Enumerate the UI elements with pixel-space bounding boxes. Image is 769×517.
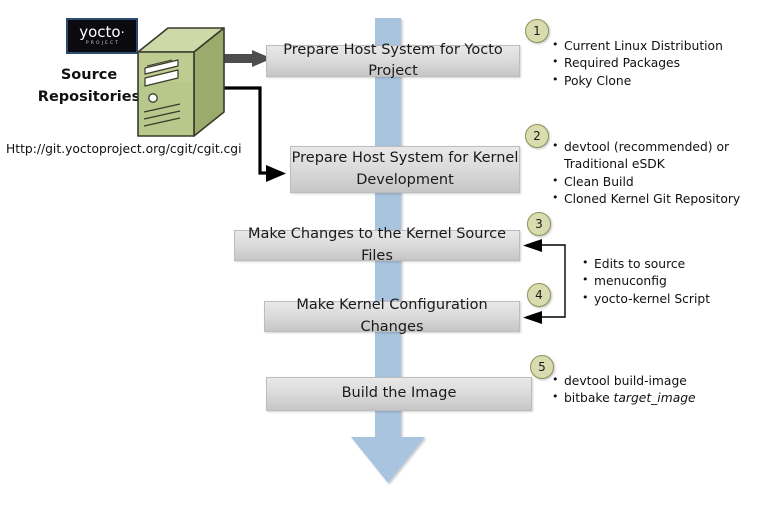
source-label-line2: Repositories <box>30 86 148 108</box>
step-1-box[interactable]: Prepare Host System for Yocto Project <box>266 45 520 77</box>
note-item-line2: Traditional eSDK <box>564 156 740 173</box>
logo-dot: · <box>121 26 125 41</box>
note-item: yocto-kernel Script <box>582 291 710 308</box>
note-item: devtool (recommended) or Traditional eSD… <box>552 139 740 174</box>
step-1-notes: Current Linux Distribution Required Pack… <box>552 38 723 90</box>
note-item: Required Packages <box>552 55 723 72</box>
step-1-box-label: Prepare Host System for Yocto Project <box>267 40 519 82</box>
step-2-box[interactable]: Prepare Host System for Kernel Developme… <box>290 146 520 193</box>
logo-subtitle: PROJECT <box>84 42 120 47</box>
step-badge-4: 4 <box>527 283 551 307</box>
step-badge-3: 3 <box>527 212 551 236</box>
note-item: Poky Clone <box>552 73 723 90</box>
arrowhead-step4 <box>523 311 542 324</box>
note-item: bitbake target_image <box>552 390 696 407</box>
arrow-server-to-step2 <box>224 88 275 173</box>
step-2-box-label-line1: Prepare Host System for Kernel <box>292 150 519 166</box>
step-2-box-label-line2: Development <box>356 172 454 188</box>
note-item-emphasis: target_image <box>614 391 696 405</box>
note-item-prefix: bitbake <box>564 391 614 405</box>
note-item: devtool build-image <box>552 373 696 390</box>
step-badge-2: 2 <box>525 124 549 148</box>
step-badge-5: 5 <box>530 355 554 379</box>
source-repositories-label: Source Repositories <box>30 64 148 109</box>
arrow-server-to-step1 <box>224 50 272 67</box>
arrowhead-step3 <box>523 239 542 252</box>
step-2-notes: devtool (recommended) or Traditional eSD… <box>552 139 740 209</box>
step-badge-1: 1 <box>525 19 549 43</box>
server-tower-icon <box>134 26 228 138</box>
source-repository-url: Http://git.yoctoproject.org/cgit/cgit.cg… <box>6 142 242 156</box>
note-item: Clean Build <box>552 174 740 191</box>
source-label-line1: Source <box>30 64 148 86</box>
step-4-box-label: Make Kernel Configuration Changes <box>265 295 519 337</box>
note-item: Current Linux Distribution <box>552 38 723 55</box>
step-5-box[interactable]: Build the Image <box>266 377 532 411</box>
note-item: menuconfig <box>582 273 710 290</box>
step-5-notes: devtool build-image bitbake target_image <box>552 373 696 408</box>
steps-3-4-shared-notes: Edits to source menuconfig yocto-kernel … <box>582 256 710 308</box>
note-item-line1: devtool (recommended) or <box>564 140 729 154</box>
step-5-box-label: Build the Image <box>342 383 457 404</box>
step-4-box[interactable]: Make Kernel Configuration Changes <box>264 301 520 332</box>
note-item: Edits to source <box>582 256 710 273</box>
step-3-box-label: Make Changes to the Kernel Source Files <box>235 224 519 266</box>
logo-wordmark: yocto· <box>79 25 125 40</box>
yocto-project-logo: yocto· PROJECT <box>66 18 138 54</box>
step-3-box[interactable]: Make Changes to the Kernel Source Files <box>234 230 520 261</box>
note-item: Cloned Kernel Git Repository <box>552 191 740 208</box>
diagram-canvas: yocto· PROJECT Source Repositories Http:… <box>0 0 769 517</box>
step-2-box-label: Prepare Host System for Kernel Developme… <box>292 148 519 190</box>
arrowhead-step2 <box>266 165 286 182</box>
